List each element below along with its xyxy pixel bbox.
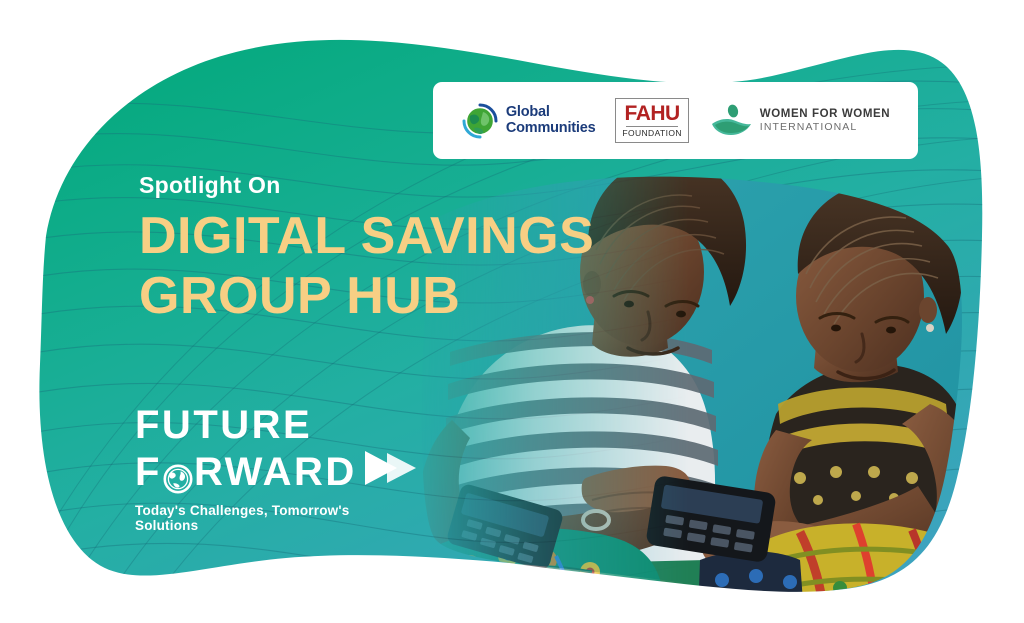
double-play-arrow-icon [363, 448, 419, 496]
ff-forward-part-b: RWARD [194, 451, 357, 493]
ff-word-future: FUTURE [135, 404, 405, 446]
ff-word-forward-row: F RWARD [135, 448, 405, 496]
page-title: DIGITAL SAVINGS GROUP HUB [139, 206, 659, 326]
logo-fahu-foundation[interactable]: FAHU FOUNDATION [615, 98, 689, 143]
fahu-box-icon: FAHU FOUNDATION [615, 98, 689, 143]
logo-global-communities[interactable]: Global Communities [461, 102, 596, 140]
globe-swoosh-icon [461, 102, 499, 140]
partner-logo-card: Global Communities FAHU FOUNDATION [433, 82, 918, 159]
logo-fahu-line2: FOUNDATION [622, 129, 682, 138]
logo-wfw-line2: INTERNATIONAL [760, 121, 890, 133]
ff-forward-part-a: F [135, 451, 162, 493]
logo-fahu-line1: FAHU [625, 103, 680, 124]
future-forward-logo[interactable]: FUTURE F RWARD [135, 404, 405, 533]
title-line-2: GROUP HUB [139, 266, 659, 326]
title-line-1: DIGITAL SAVINGS [139, 206, 659, 266]
globe-icon [163, 460, 193, 490]
eyebrow-text: Spotlight On [139, 172, 281, 199]
ff-tagline: Today's Challenges, Tomorrow's Solutions [135, 503, 405, 533]
spotlight-banner: Global Communities FAHU FOUNDATION [0, 0, 1024, 623]
logo-gc-line2: Communities [506, 121, 596, 137]
logo-gc-line1: Global [506, 105, 596, 121]
logo-wfw-line1: WOMEN FOR WOMEN [760, 108, 890, 121]
woman-reaching-icon [709, 104, 753, 138]
fahu-divider [626, 126, 678, 127]
logo-women-for-women[interactable]: WOMEN FOR WOMEN INTERNATIONAL [709, 104, 890, 138]
